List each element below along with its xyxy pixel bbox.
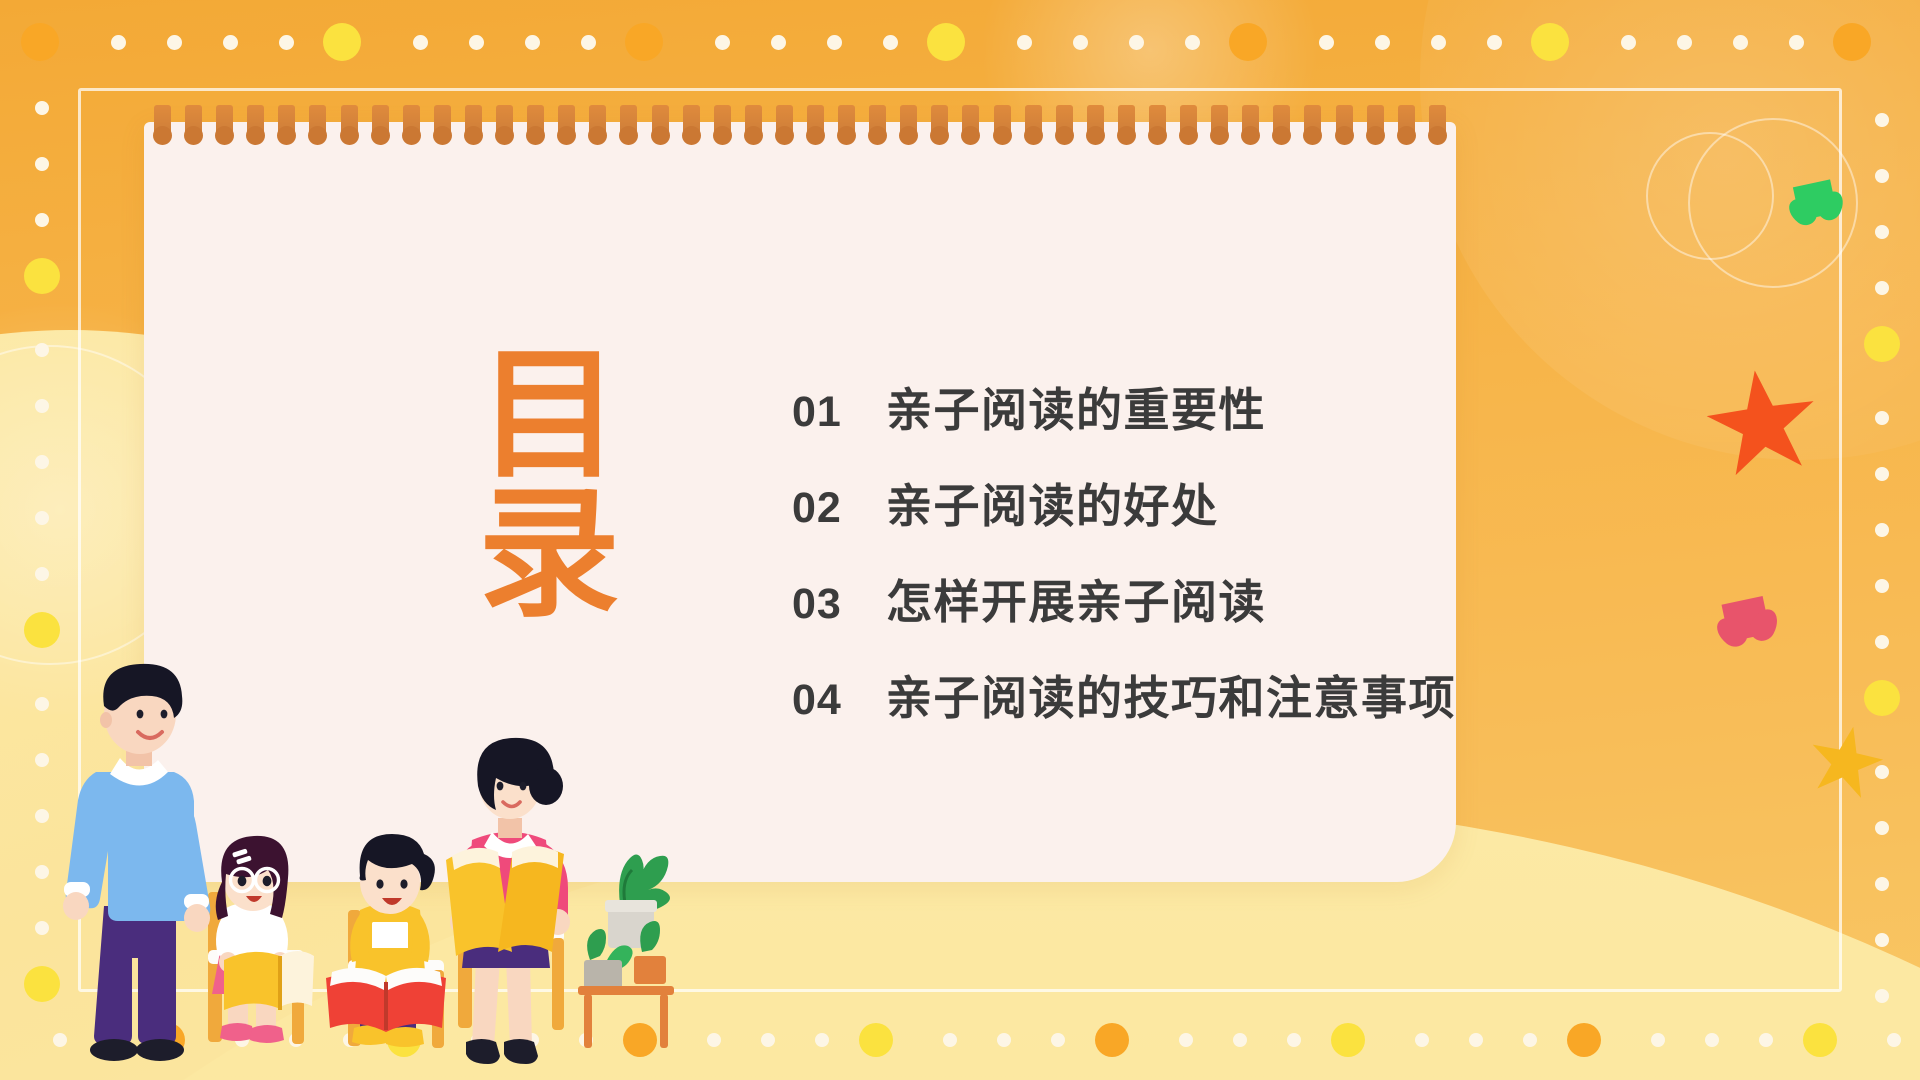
decor-dot: [1733, 35, 1748, 50]
toc-item-03[interactable]: 03 怎样开展亲子阅读: [792, 566, 1456, 662]
decor-dot: [24, 258, 60, 294]
figure-boy: [326, 834, 446, 1047]
decor-dot: [111, 35, 126, 50]
decor-dot: [1017, 35, 1032, 50]
decor-dot: [1621, 35, 1636, 50]
toc-item-number: 03: [792, 580, 886, 629]
decor-dot: [1875, 989, 1889, 1003]
decor-dot: [1319, 35, 1334, 50]
decor-dot: [1759, 1033, 1773, 1047]
decor-dot: [323, 23, 361, 61]
toc-item-label: 亲子阅读的技巧和注意事项: [886, 662, 1456, 728]
toc-item-number: 04: [792, 676, 886, 725]
toc-item-04[interactable]: 04 亲子阅读的技巧和注意事项: [792, 662, 1456, 758]
decor-dot: [35, 157, 49, 171]
decor-dot: [35, 697, 49, 711]
decor-dot: [1523, 1033, 1537, 1047]
decor-dot: [24, 612, 60, 648]
decor-dot: [943, 1033, 957, 1047]
decor-dot: [1567, 1023, 1601, 1057]
decor-dot: [1875, 113, 1889, 127]
decor-dot: [35, 921, 49, 935]
heart-green-icon: [1793, 179, 1837, 220]
toc-list: 01 亲子阅读的重要性 02 亲子阅读的好处 03 怎样开展亲子阅读 04 亲子…: [792, 374, 1456, 758]
decor-dot: [859, 1023, 893, 1057]
title-char-2: 录: [460, 485, 640, 624]
slide-canvas: 目 录 01 亲子阅读的重要性 02 亲子阅读的好处 03 怎样开展亲子阅读 0…: [0, 0, 1920, 1080]
decor-dot: [35, 399, 49, 413]
decor-dot: [581, 35, 596, 50]
decor-dot: [1677, 35, 1692, 50]
decor-dot: [771, 35, 786, 50]
decor-dot: [1875, 765, 1889, 779]
decor-dot: [1887, 1033, 1901, 1047]
decor-dot: [35, 567, 49, 581]
decor-dot: [827, 35, 842, 50]
decor-dot: [21, 23, 59, 61]
decor-dot: [1073, 35, 1088, 50]
decor-dot: [1875, 411, 1889, 425]
decor-dot: [413, 35, 428, 50]
decor-dot: [1129, 35, 1144, 50]
decor-dot: [24, 966, 60, 1002]
decor-dot: [715, 35, 730, 50]
page-title: 目 录: [460, 346, 640, 624]
decor-dot: [1875, 467, 1889, 481]
decor-dot: [815, 1033, 829, 1047]
decor-dot: [1233, 1033, 1247, 1047]
toc-item-number: 02: [792, 484, 886, 533]
decor-dot: [1469, 1033, 1483, 1047]
figure-father: [63, 664, 210, 1061]
decor-dot: [1875, 635, 1889, 649]
decor-dot: [1803, 1023, 1837, 1057]
decor-dot: [761, 1033, 775, 1047]
toc-item-label: 亲子阅读的好处: [886, 470, 1219, 536]
decor-dot: [1415, 1033, 1429, 1047]
decor-dot: [1431, 35, 1446, 50]
decor-dot: [1287, 1033, 1301, 1047]
decor-dot: [1875, 877, 1889, 891]
toc-item-label: 亲子阅读的重要性: [886, 374, 1266, 440]
decor-dot: [35, 809, 49, 823]
decor-dot: [35, 865, 49, 879]
decor-dot: [1875, 281, 1889, 295]
decor-dot: [525, 35, 540, 50]
decor-dot: [997, 1033, 1011, 1047]
decor-dot: [1705, 1033, 1719, 1047]
decor-dot: [1651, 1033, 1665, 1047]
side-table: [578, 986, 674, 1048]
decor-dot: [1229, 23, 1267, 61]
decor-dot: [1789, 35, 1804, 50]
toc-item-label: 怎样开展亲子阅读: [886, 566, 1266, 632]
decor-dot: [35, 101, 49, 115]
decor-dot: [1864, 680, 1900, 716]
decor-dot: [1487, 35, 1502, 50]
decor-dot: [927, 23, 965, 61]
family-reading-illustration: [60, 660, 720, 1080]
book-girl: [224, 951, 314, 1010]
decor-dot: [1051, 1033, 1065, 1047]
decor-dot: [35, 343, 49, 357]
decor-dot: [1875, 933, 1889, 947]
decor-dot: [1531, 23, 1569, 61]
decor-dot: [1375, 35, 1390, 50]
heart-pink-icon: [1722, 596, 1771, 642]
potted-plant-cactus: [605, 854, 670, 948]
decor-dot: [1833, 23, 1871, 61]
decor-dot: [35, 511, 49, 525]
title-char-1: 目: [460, 346, 640, 485]
decor-dot: [1185, 35, 1200, 50]
decor-dot: [469, 35, 484, 50]
decor-dot: [1179, 1033, 1193, 1047]
decor-dot: [167, 35, 182, 50]
decor-dot: [1875, 169, 1889, 183]
toc-item-02[interactable]: 02 亲子阅读的好处: [792, 470, 1456, 566]
decor-dot: [625, 23, 663, 61]
decor-dot: [1875, 821, 1889, 835]
decor-dot: [1875, 579, 1889, 593]
toc-item-number: 01: [792, 388, 886, 437]
decor-dot: [279, 35, 294, 50]
decor-dot: [1875, 523, 1889, 537]
decor-dot: [223, 35, 238, 50]
decor-dot: [1864, 326, 1900, 362]
decor-dot: [35, 213, 49, 227]
decor-dot: [1331, 1023, 1365, 1057]
decor-dot: [883, 35, 898, 50]
toc-item-01[interactable]: 01 亲子阅读的重要性: [792, 374, 1456, 470]
decor-dot: [35, 753, 49, 767]
decor-dot: [1095, 1023, 1129, 1057]
decor-dot: [1875, 225, 1889, 239]
decor-dot: [35, 455, 49, 469]
